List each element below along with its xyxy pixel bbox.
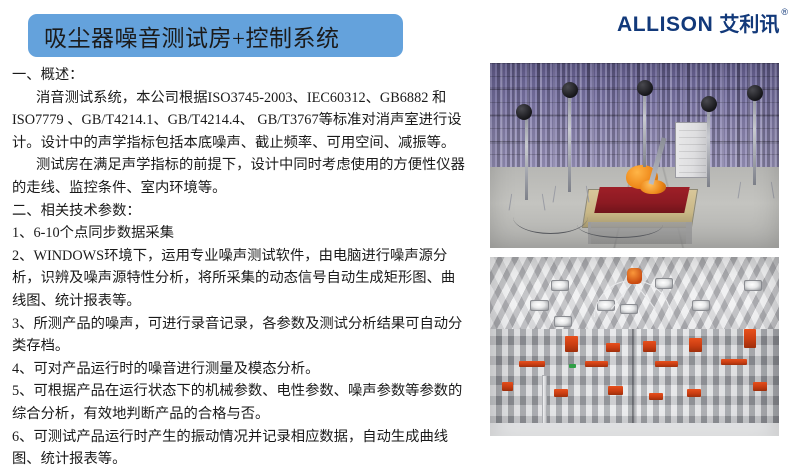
overview-paragraph-2: 测试房在满足声学指标的前提下，设计中同时考虑使用的方便性仪器的走线、监控条件、室… [12, 154, 467, 199]
orange-accent-wedge [687, 389, 701, 396]
logo-cjk-text: 艾利讯 [719, 14, 779, 34]
logo-latin-text: ALLISON [617, 14, 713, 35]
page-title: 吸尘器噪音测试房+控制系统 [44, 19, 339, 53]
spec-item: 2、WINDOWS环境下，运用专业噪声测试软件，由电脑进行噪声源分析，识辨及噪声… [12, 245, 467, 313]
microphone-stand [643, 87, 646, 167]
signal-cable [513, 200, 588, 234]
photo-top-scene [490, 63, 779, 248]
spec-item: 4、可对产品运行时的噪音进行测量及模态分析。 [12, 358, 467, 381]
chamber-door-frame [542, 375, 547, 429]
registered-trademark-icon: ® [781, 8, 788, 17]
spec-item: 6、可测试产品运行时产生的振动情况并记录相应数据，自动生成曲线图、统计报表等。 [12, 426, 467, 471]
microphone-stand [753, 93, 756, 186]
orange-accent-wedge [649, 393, 663, 400]
photo-anechoic-chamber-interior [490, 257, 779, 436]
microphone-stand [568, 89, 571, 193]
microphone-stand [707, 104, 710, 187]
photo-anechoic-chamber-vacuum-test [490, 63, 779, 248]
spec-item: 1、6-10个点同步数据采集 [12, 222, 467, 245]
company-logo: ALLISON 艾利讯 ® [617, 14, 788, 35]
signal-cable [577, 211, 664, 238]
orange-accent-wedge [744, 329, 756, 349]
acoustic-wedge-wall [490, 63, 779, 168]
ceiling-light-icon [744, 280, 762, 291]
section-two-heading: 二、相关技术参数： [12, 200, 467, 223]
orange-accent-wedge [554, 389, 568, 396]
slide-title-banner: 吸尘器噪音测试房+控制系统 [28, 14, 403, 57]
microphone-stand [525, 111, 528, 200]
orange-accent-wedge [721, 359, 747, 365]
microphone-tripod [737, 182, 774, 198]
ceiling-light-icon [554, 316, 572, 327]
orange-accent-wedge [753, 382, 767, 391]
spec-item: 3、所测产品的噪声，可进行录音记录，各参数及测试分析结果可自动分类存档。 [12, 313, 467, 358]
overview-paragraph-1: 消音测试系统，本公司根据ISO3745-2003、IEC60312、GB6882… [12, 87, 467, 155]
body-text-column: 一、概述： 消音测试系统，本公司根据ISO3745-2003、IEC60312、… [12, 64, 467, 471]
chamber-floor [490, 423, 779, 436]
microphone-icon [516, 104, 532, 120]
wall-corner-seam [632, 329, 637, 433]
spec-item: 5、可根据产品在运行状态下的机械参数、电性参数、噪声参数等参数的综合分析，有效地… [12, 380, 467, 425]
microphone-icon [637, 80, 653, 96]
ceiling-light-icon [692, 300, 710, 311]
orange-accent-wedge [606, 343, 620, 352]
orange-accent-wedge [643, 341, 656, 352]
orange-accent-wedge [655, 361, 678, 367]
photo-bottom-scene [490, 257, 779, 436]
orange-accent-wedge [585, 361, 608, 367]
dome-mount-fixture [627, 268, 641, 284]
orange-accent-wedge [565, 336, 578, 352]
ceiling-light-icon [530, 300, 548, 311]
ceiling-light-icon [551, 280, 569, 291]
equipment-cabinet [675, 122, 710, 178]
slide-canvas: 吸尘器噪音测试房+控制系统 ALLISON 艾利讯 ® 一、概述： 消音测试系统… [0, 0, 800, 450]
section-one-heading: 一、概述： [12, 64, 467, 87]
orange-accent-wedge [519, 361, 545, 367]
orange-accent-wedge [689, 338, 702, 352]
orange-accent-wedge [608, 386, 622, 395]
orange-accent-wedge [502, 382, 514, 391]
microphone-icon [562, 82, 578, 98]
exit-sign-icon [569, 364, 575, 368]
